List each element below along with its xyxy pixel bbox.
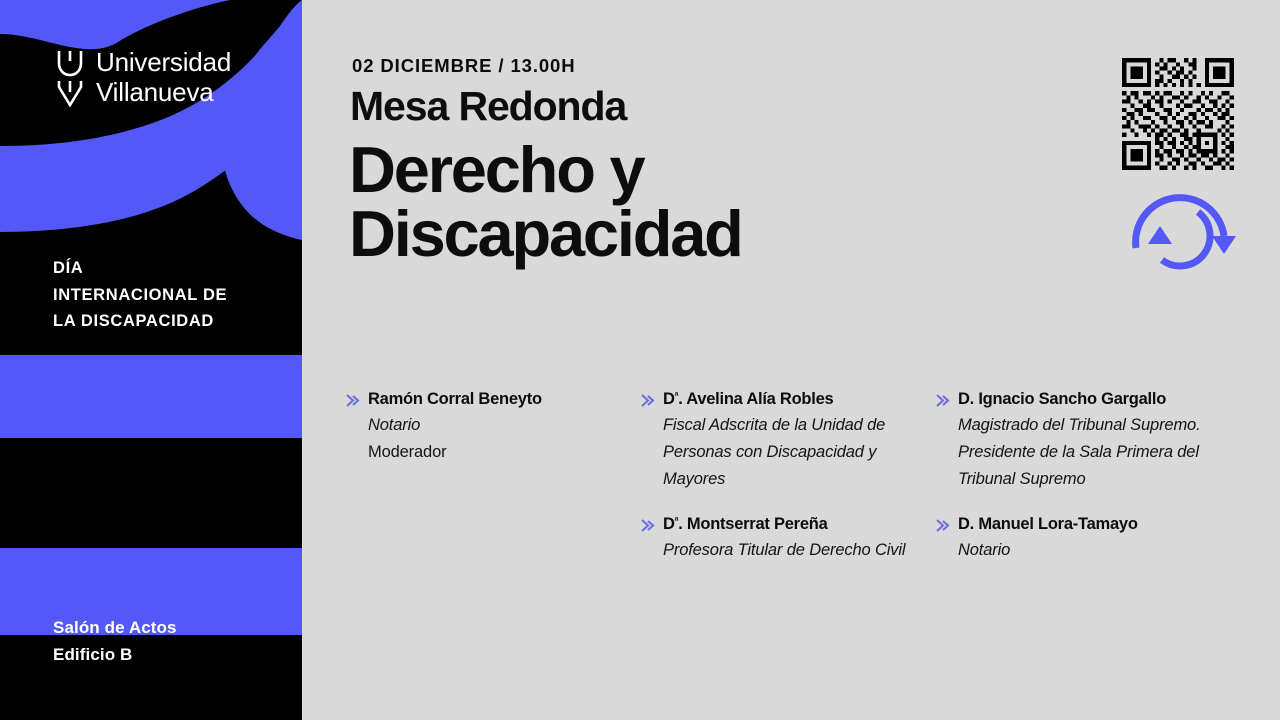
speaker-name-text: . Avelina Alía Robles xyxy=(678,390,833,408)
speaker-role: Profesora Titular de Derecho Civil xyxy=(663,537,936,564)
venue-line-2: Edificio B xyxy=(53,642,177,669)
speaker-role: Magistrado del Tribunal Supremo. Preside… xyxy=(958,412,1244,493)
speaker-card: Dª. Avelina Alía Robles Fiscal Adscrita … xyxy=(641,389,936,492)
speaker-name-text: D. Manuel Lora-Tamayo xyxy=(958,515,1138,533)
double-chevron-right-icon xyxy=(641,393,657,408)
event-date-time: 02 DICIEMBRE / 13.00H xyxy=(352,55,576,77)
speaker-role: Notario xyxy=(368,412,641,439)
main-content: 02 DICIEMBRE / 13.00H Mesa Redonda Derec… xyxy=(302,0,1280,720)
speaker-title-prefix: D xyxy=(663,390,675,408)
event-format: Mesa Redonda xyxy=(350,86,626,127)
day-label-line-3: LA DISCAPACIDAD xyxy=(53,308,288,335)
speaker-card: D. Ignacio Sancho Gargallo Magistrado de… xyxy=(936,389,1244,492)
venue-line-1: Salón de Actos xyxy=(53,615,177,642)
universidad-villanueva-uv-monogram-icon xyxy=(55,47,85,109)
page-title: Derecho y Discapacidad xyxy=(349,138,742,267)
speaker-name-text: Ramón Corral Beneyto xyxy=(368,390,542,408)
double-chevron-right-icon xyxy=(346,393,362,408)
speaker-card: Dª. Montserrat Pereña Profesora Titular … xyxy=(641,514,936,564)
day-label-line-2: INTERNACIONAL DE xyxy=(53,282,288,309)
page-title-line-2: Discapacidad xyxy=(349,202,742,266)
double-chevron-right-icon xyxy=(936,393,952,408)
venue-info: Salón de Actos Edificio B xyxy=(53,615,177,669)
brand-lockup: Universidad Villanueva xyxy=(55,47,231,109)
qr-code-icon[interactable] xyxy=(1118,54,1238,174)
speaker-name: Dª. Avelina Alía Robles xyxy=(663,389,936,411)
page-title-line-1: Derecho y xyxy=(349,138,742,202)
speaker-card: Ramón Corral Beneyto Notario Moderador xyxy=(346,389,641,492)
circular-refresh-arrows-icon xyxy=(1114,178,1242,290)
speakers-grid: Ramón Corral Beneyto Notario Moderador D… xyxy=(346,389,1268,564)
speaker-role: Fiscal Adscrita de la Unidad de Personas… xyxy=(663,412,936,493)
brand-name: Universidad Villanueva xyxy=(96,47,231,107)
speaker-card: D. Manuel Lora-Tamayo Notario xyxy=(936,514,1244,564)
speaker-name-text: . Montserrat Pereña xyxy=(678,515,827,533)
double-chevron-right-icon xyxy=(936,518,952,533)
speaker-title-prefix: D xyxy=(663,515,675,533)
brand-line-2: Villanueva xyxy=(96,77,214,107)
day-label: DÍA INTERNACIONAL DE LA DISCAPACIDAD xyxy=(53,255,288,335)
speaker-name: Dª. Montserrat Pereña xyxy=(663,514,936,536)
speaker-extra-role: Moderador xyxy=(368,439,641,466)
speaker-role: Notario xyxy=(958,537,1244,564)
sidebar-panel: Universidad Villanueva DÍA INTERNACIONAL… xyxy=(0,0,302,720)
day-label-line-1: DÍA xyxy=(53,255,288,282)
speaker-name: D. Manuel Lora-Tamayo xyxy=(958,514,1244,536)
brand-line-1: Universidad xyxy=(96,47,231,77)
double-chevron-right-icon xyxy=(641,518,657,533)
speaker-name: D. Ignacio Sancho Gargallo xyxy=(958,389,1244,411)
speaker-name-text: D. Ignacio Sancho Gargallo xyxy=(958,390,1166,408)
speaker-name: Ramón Corral Beneyto xyxy=(368,389,641,411)
